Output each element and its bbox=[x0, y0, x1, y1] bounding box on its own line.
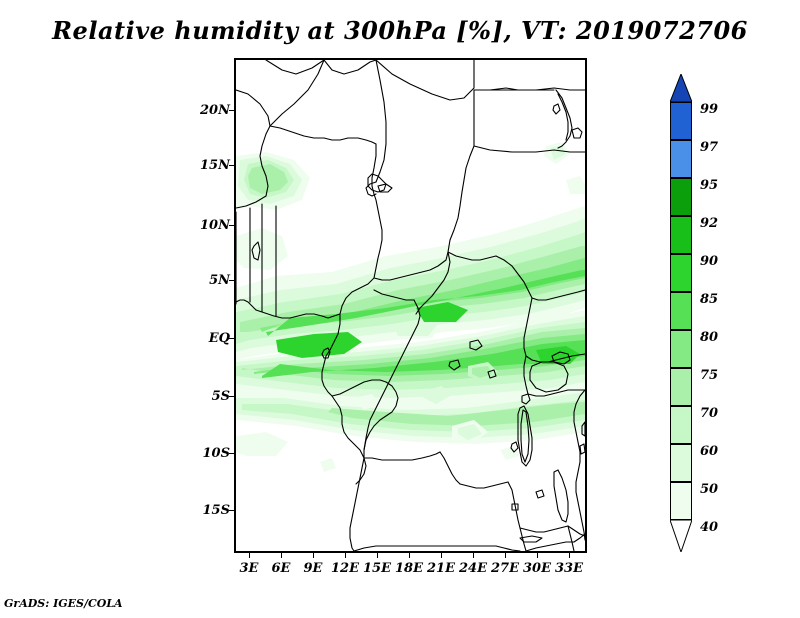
colorbar-label-60: 60 bbox=[700, 445, 734, 458]
colorbar-label-40: 40 bbox=[700, 521, 734, 534]
x-tick-mark-3E bbox=[249, 553, 250, 558]
x-tick-mark-30E bbox=[537, 553, 538, 558]
y-tick-label-10N: 10N bbox=[190, 219, 230, 232]
colorbar-band-75-80 bbox=[670, 330, 692, 368]
x-tick-label-21E: 21E bbox=[424, 562, 458, 575]
colorbar-label-95: 95 bbox=[700, 179, 734, 192]
colorbar-band-92-95 bbox=[670, 178, 692, 216]
x-tick-label-12E: 12E bbox=[328, 562, 362, 575]
y-tick-label-20N: 20N bbox=[190, 104, 230, 117]
colorbar-label-90: 90 bbox=[700, 255, 734, 268]
colorbar-band-85-90 bbox=[670, 254, 692, 292]
x-tick-mark-18E bbox=[409, 553, 410, 558]
map-plot-frame bbox=[234, 58, 587, 553]
colorbar-band-50-60 bbox=[670, 444, 692, 482]
x-tick-label-9E: 9E bbox=[296, 562, 330, 575]
grads-attribution: GrADS: IGES/COLA bbox=[4, 597, 123, 610]
x-tick-label-24E: 24E bbox=[456, 562, 490, 575]
y-tick-mark-5S bbox=[229, 396, 234, 397]
page-title: Relative humidity at 300hPa [%], VT: 201… bbox=[0, 16, 800, 45]
x-tick-mark-24E bbox=[473, 553, 474, 558]
x-tick-mark-12E bbox=[345, 553, 346, 558]
colorbar-band-90-92 bbox=[670, 216, 692, 254]
y-tick-mark-10S bbox=[229, 453, 234, 454]
colorbar-band-95-97 bbox=[670, 140, 692, 178]
y-tick-mark-10N bbox=[229, 225, 234, 226]
y-tick-label-5N: 5N bbox=[190, 274, 230, 287]
x-tick-mark-27E bbox=[505, 553, 506, 558]
x-tick-label-3E: 3E bbox=[232, 562, 266, 575]
colorbar-band-60-70 bbox=[670, 406, 692, 444]
map-canvas bbox=[236, 60, 585, 551]
colorbar-label-75: 75 bbox=[700, 369, 734, 382]
x-tick-mark-6E bbox=[281, 553, 282, 558]
x-tick-mark-33E bbox=[569, 553, 570, 558]
x-tick-mark-21E bbox=[441, 553, 442, 558]
y-tick-mark-EQ bbox=[229, 338, 234, 339]
colorbar-label-97: 97 bbox=[700, 141, 734, 154]
colorbar-label-70: 70 bbox=[700, 407, 734, 420]
x-tick-mark-15E bbox=[377, 553, 378, 558]
colorbar-band-40-50 bbox=[670, 482, 692, 520]
y-tick-label-10S: 10S bbox=[190, 447, 230, 460]
y-tick-label-15S: 15S bbox=[190, 504, 230, 517]
x-tick-label-33E: 33E bbox=[552, 562, 586, 575]
y-tick-mark-15S bbox=[229, 510, 234, 511]
colorbar-band-97-99 bbox=[670, 102, 692, 140]
triangle-up-icon bbox=[670, 74, 692, 102]
y-tick-mark-15N bbox=[229, 165, 234, 166]
colorbar-label-99: 99 bbox=[700, 103, 734, 116]
x-tick-mark-9E bbox=[313, 553, 314, 558]
colorbar: 99 97 95 92 90 85 80 75 70 60 50 40 bbox=[666, 74, 694, 552]
x-tick-label-30E: 30E bbox=[520, 562, 554, 575]
humidity-shading-layer bbox=[236, 142, 585, 472]
x-tick-label-27E: 27E bbox=[488, 562, 522, 575]
colorbar-label-92: 92 bbox=[700, 217, 734, 230]
y-tick-mark-20N bbox=[229, 110, 234, 111]
y-tick-mark-5N bbox=[229, 280, 234, 281]
colorbar-label-50: 50 bbox=[700, 483, 734, 496]
colorbar-band-80-85 bbox=[670, 292, 692, 330]
y-tick-label-5S: 5S bbox=[190, 390, 230, 403]
x-tick-label-15E: 15E bbox=[360, 562, 394, 575]
colorbar-label-85: 85 bbox=[700, 293, 734, 306]
triangle-down-icon bbox=[670, 520, 692, 552]
y-tick-label-EQ: EQ bbox=[190, 332, 230, 345]
colorbar-band-70-75 bbox=[670, 368, 692, 406]
colorbar-label-80: 80 bbox=[700, 331, 734, 344]
x-tick-label-18E: 18E bbox=[392, 562, 426, 575]
y-tick-label-15N: 15N bbox=[190, 159, 230, 172]
x-tick-label-6E: 6E bbox=[264, 562, 298, 575]
